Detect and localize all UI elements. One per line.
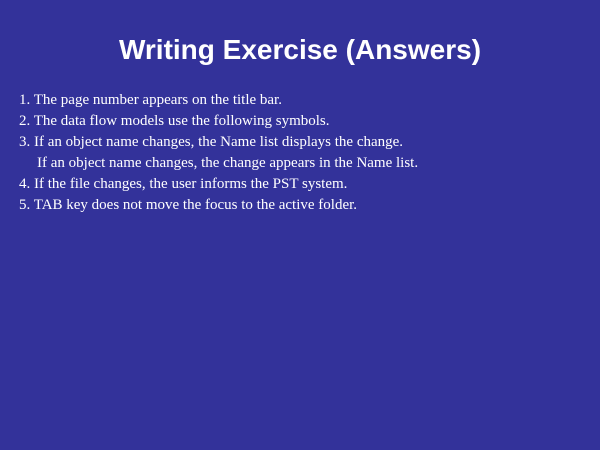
list-item: 4. If the file changes, the user informs… bbox=[19, 174, 581, 195]
list-item: 1. The page number appears on the title … bbox=[19, 90, 581, 111]
page-title: Writing Exercise (Answers) bbox=[0, 33, 600, 67]
answers-list: 1. The page number appears on the title … bbox=[19, 90, 581, 216]
list-item: 2. The data flow models use the followin… bbox=[19, 111, 581, 132]
presentation-slide: Writing Exercise (Answers) 1. The page n… bbox=[0, 0, 600, 450]
list-item: 3. If an object name changes, the Name l… bbox=[19, 132, 581, 153]
list-item-continuation: If an object name changes, the change ap… bbox=[19, 153, 581, 174]
list-item: 5. TAB key does not move the focus to th… bbox=[19, 195, 581, 216]
